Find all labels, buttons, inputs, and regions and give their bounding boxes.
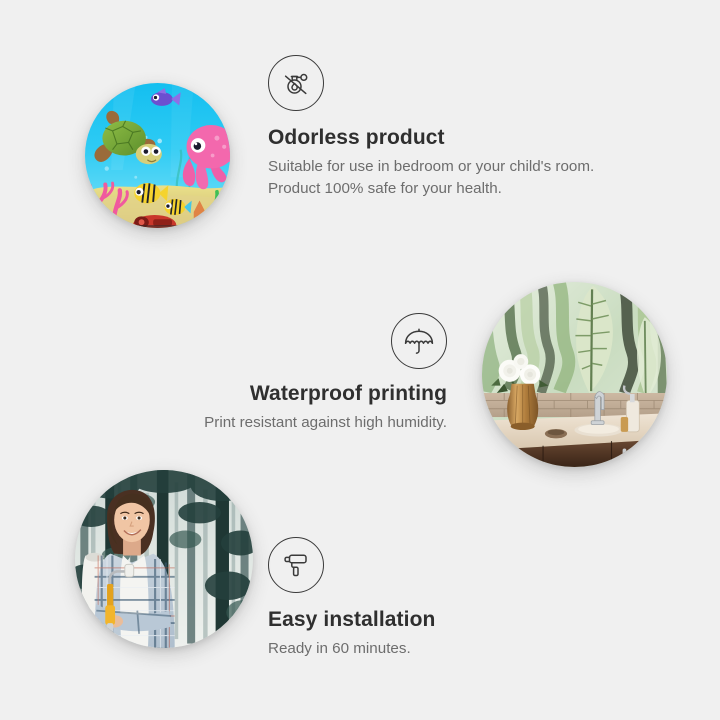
feature-installation-title: Easy installation [268, 607, 588, 633]
feature-waterproof-description: Print resistant against high humidity. [155, 412, 447, 434]
feature-waterproof-icon-row [155, 313, 447, 381]
feature-waterproof: Waterproof printing Print resistant agai… [155, 313, 447, 434]
feature-showcase: Odorless product Suitable for use in bed… [0, 0, 720, 720]
underwater-cartoon-mural-photo[interactable] [85, 83, 230, 228]
feature-odorless: Odorless product Suitable for use in bed… [268, 55, 608, 199]
umbrella-icon [391, 313, 447, 369]
feature-waterproof-title: Waterproof printing [155, 381, 447, 407]
feature-odorless-icon-row [268, 55, 608, 125]
woman-with-paint-roller-forest-wallpaper-photo[interactable] [75, 470, 253, 648]
feature-installation-icon-row [268, 537, 588, 607]
no-odor-perfume-bottle-icon [268, 55, 324, 111]
feature-installation-description: Ready in 60 minutes. [268, 638, 588, 660]
bathroom-tropical-wallpaper-photo[interactable] [482, 282, 667, 467]
feature-installation: Easy installation Ready in 60 minutes. [268, 537, 588, 660]
paint-roller-icon [268, 537, 324, 593]
feature-odorless-title: Odorless product [268, 125, 608, 151]
feature-odorless-description: Suitable for use in bedroom or your chil… [268, 156, 608, 199]
